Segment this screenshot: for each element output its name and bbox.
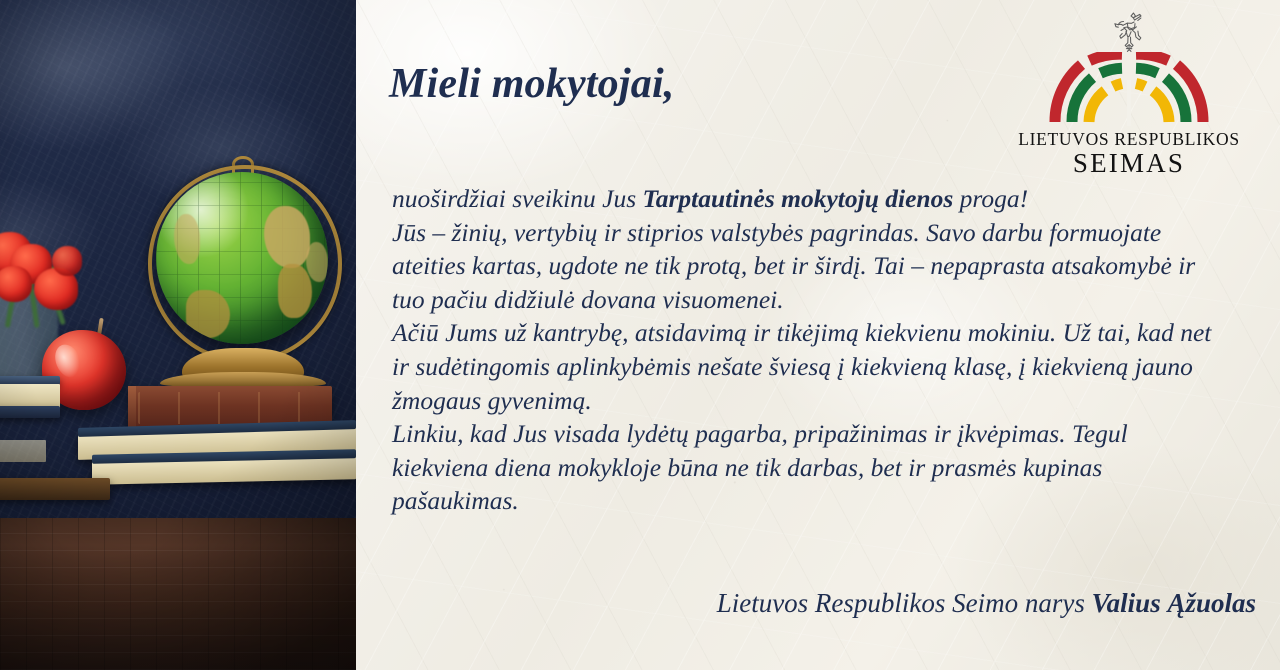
greeting-card: LIETUVOS RESPUBLIKOS SEIMAS Mieli mokyto… [0,0,1280,670]
signature-role: Lietuvos Respublikos Seimo narys [717,588,1092,618]
emphasis-text: Tarptautinės mokytojų dienos [643,184,954,213]
letter-content: LIETUVOS RESPUBLIKOS SEIMAS Mieli mokyto… [356,0,1280,670]
seimas-arcs-icon [1049,52,1209,126]
seimas-logo: LIETUVOS RESPUBLIKOS SEIMAS [1000,12,1258,179]
signature: Lietuvos Respublikos Seimo narys Valius … [717,588,1256,619]
body-text: Ačiū Jums už kantrybę, atsidavimą ir tik… [392,318,1211,414]
logo-line-1: LIETUVOS RESPUBLIKOS [1000,130,1258,148]
letter-paragraph: Ačiū Jums už kantrybę, atsidavimą ir tik… [392,316,1228,417]
letter-paragraph: nuoširdžiai sveikinu Jus Tarptautinės mo… [392,182,1228,216]
letter-body: nuoširdžiai sveikinu Jus Tarptautinės mo… [392,182,1228,518]
body-text: Jūs – žinių, vertybių ir stiprios valsty… [392,218,1195,314]
body-text: nuoširdžiai sveikinu Jus [392,184,643,213]
letter-paragraph: Jūs – žinių, vertybių ir stiprios valsty… [392,216,1228,317]
body-text: Linkiu, kad Jus visada lydėtų pagarba, p… [392,419,1128,515]
page-title: Mieli mokytojai, [389,60,675,108]
logo-line-2: SEIMAS [1000,149,1258,179]
body-text: proga! [953,184,1028,213]
paper-panel: LIETUVOS RESPUBLIKOS SEIMAS Mieli mokyto… [356,0,1280,670]
photo-panel [0,0,356,670]
photo-vignette [0,0,356,670]
letter-paragraph: Linkiu, kad Jus visada lydėtų pagarba, p… [392,417,1228,518]
signature-name: Valius Ąžuolas [1092,588,1256,618]
